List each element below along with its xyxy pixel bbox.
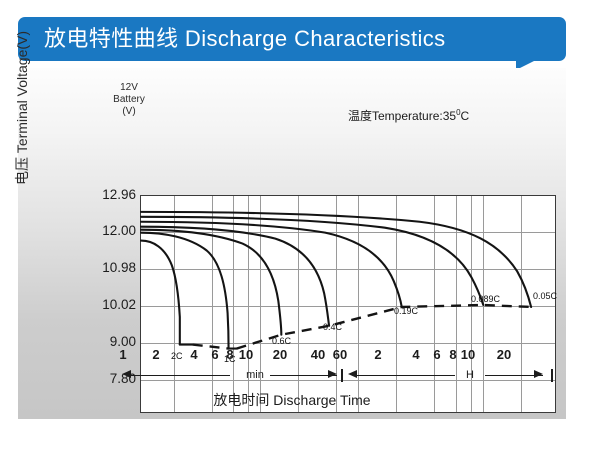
x-tick-10: 10 (234, 347, 258, 362)
y-tick-12-96: 12.96 (70, 187, 136, 202)
min-range-line-left (130, 375, 230, 376)
curve-label-0-6C: 0.6C (272, 336, 291, 346)
curve-label-0-05C: 0.05C (533, 291, 557, 301)
curve-label-0-19C: 0.19C (394, 306, 418, 316)
y-tick-12-00: 12.00 (70, 223, 136, 238)
hour-range-left-arrow-icon (348, 370, 357, 378)
hour-range-line-left (357, 375, 455, 376)
curve-label-2C: 2C (171, 351, 183, 361)
chart-panel: 12V Battery (V) 温度Temperature:350C 电压 Te… (18, 68, 566, 419)
celsius-letter: C (461, 109, 470, 123)
x-tick-h10: 10 (456, 347, 480, 362)
y-tick-10-98: 10.98 (70, 260, 136, 275)
curve-label-0-4C: 0.4C (323, 322, 342, 332)
x-tick-h2: 2 (366, 347, 390, 362)
curve-2C (141, 241, 180, 345)
x-tick-1: 1 (111, 347, 135, 362)
x-tick-60: 60 (328, 347, 352, 362)
min-range-label: min (240, 368, 270, 383)
min-range-left-arrow-icon (122, 370, 131, 378)
curve-label-0-089C: 0.089C (471, 294, 500, 304)
x-tick-h20: 20 (492, 347, 516, 362)
min-hour-divider (341, 369, 343, 382)
min-range-line-right (270, 375, 337, 376)
page-title: 放电特性曲线 Discharge Characteristics (44, 17, 564, 61)
end-voltage-envelope (193, 305, 531, 349)
x-axis-range-indicators: min H (18, 368, 566, 384)
y-axis-title: 电压 Terminal Voltage(V) (12, 0, 32, 218)
x-tick-2: 2 (144, 347, 168, 362)
temperature-annotation: 温度Temperature:350C (348, 107, 558, 124)
x-axis-title: 放电时间 Discharge Time (18, 390, 566, 410)
y-tick-labels: 12.96 12.00 10.98 10.02 9.00 7.80 (66, 68, 136, 419)
hour-range-label: H (455, 368, 485, 383)
x-tick-20: 20 (268, 347, 292, 362)
min-range-right-arrow-icon (328, 370, 337, 378)
screenshot-root: 放电特性曲线 Discharge Characteristics 12V Bat… (0, 0, 600, 451)
y-tick-10-02: 10.02 (70, 297, 136, 312)
curve-0-6C (141, 230, 281, 335)
curve-1C (141, 233, 229, 349)
x-tick-40: 40 (306, 347, 330, 362)
temperature-text: 温度Temperature:35 (348, 109, 456, 123)
curve-0-05C (141, 212, 531, 307)
hour-range-end-bar (551, 369, 553, 382)
curve-0-19C (141, 222, 402, 307)
hour-range-right-arrow-icon (534, 370, 543, 378)
